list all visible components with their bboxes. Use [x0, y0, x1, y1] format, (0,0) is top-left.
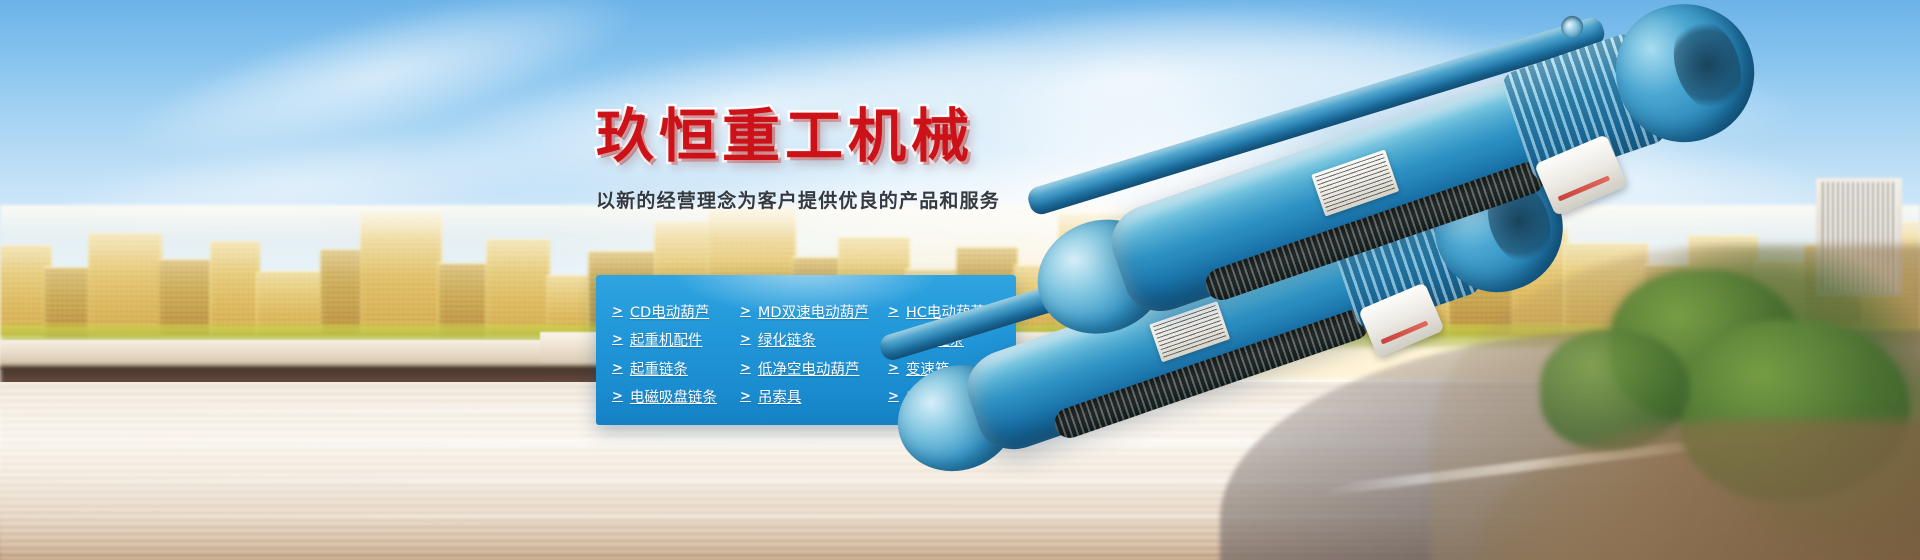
product-link-low-headroom-hoist[interactable]: > 低净空电动葫芦	[740, 358, 888, 379]
chevron-right-icon: >	[612, 390, 623, 403]
chevron-right-icon: >	[740, 305, 751, 318]
product-label: 电磁吸盘链条	[630, 386, 717, 407]
chevron-right-icon: >	[612, 333, 623, 346]
banner-copy: 玖恒重工机械 以新的经营理念为客户提供优良的产品和服务	[596, 106, 1026, 213]
product-label: 吊索具	[758, 386, 802, 407]
chevron-right-icon: >	[612, 362, 623, 375]
chevron-right-icon: >	[740, 333, 751, 346]
product-label: 低净空电动葫芦	[758, 358, 860, 379]
chevron-right-icon: >	[888, 305, 899, 318]
product-label: 绿化链条	[758, 329, 816, 350]
hero-banner: 玖恒重工机械 以新的经营理念为客户提供优良的产品和服务 > CD电动葫芦 > M…	[0, 0, 1920, 560]
product-link-crane-parts[interactable]: > 起重机配件	[612, 329, 740, 350]
product-link-slings[interactable]: > 吊索具	[740, 386, 888, 407]
product-link-lifting-chain[interactable]: > 起重链条	[612, 358, 740, 379]
product-label: MD双速电动葫芦	[758, 301, 869, 322]
product-label: 起重链条	[630, 358, 688, 379]
product-label: CD电动葫芦	[630, 301, 709, 322]
product-link-magnetic-chuck-chain[interactable]: > 电磁吸盘链条	[612, 386, 740, 407]
banner-subtitle: 以新的经营理念为客户提供优良的产品和服务	[596, 186, 1026, 213]
product-link-cd-hoist[interactable]: > CD电动葫芦	[612, 301, 740, 322]
chevron-right-icon: >	[612, 305, 623, 318]
product-label: 起重机配件	[630, 329, 703, 350]
chevron-right-icon: >	[740, 362, 751, 375]
chevron-right-icon: >	[740, 390, 751, 403]
page-title: 玖恒重工机械	[596, 106, 1026, 167]
product-link-md-dual-speed-hoist[interactable]: > MD双速电动葫芦	[740, 301, 888, 322]
